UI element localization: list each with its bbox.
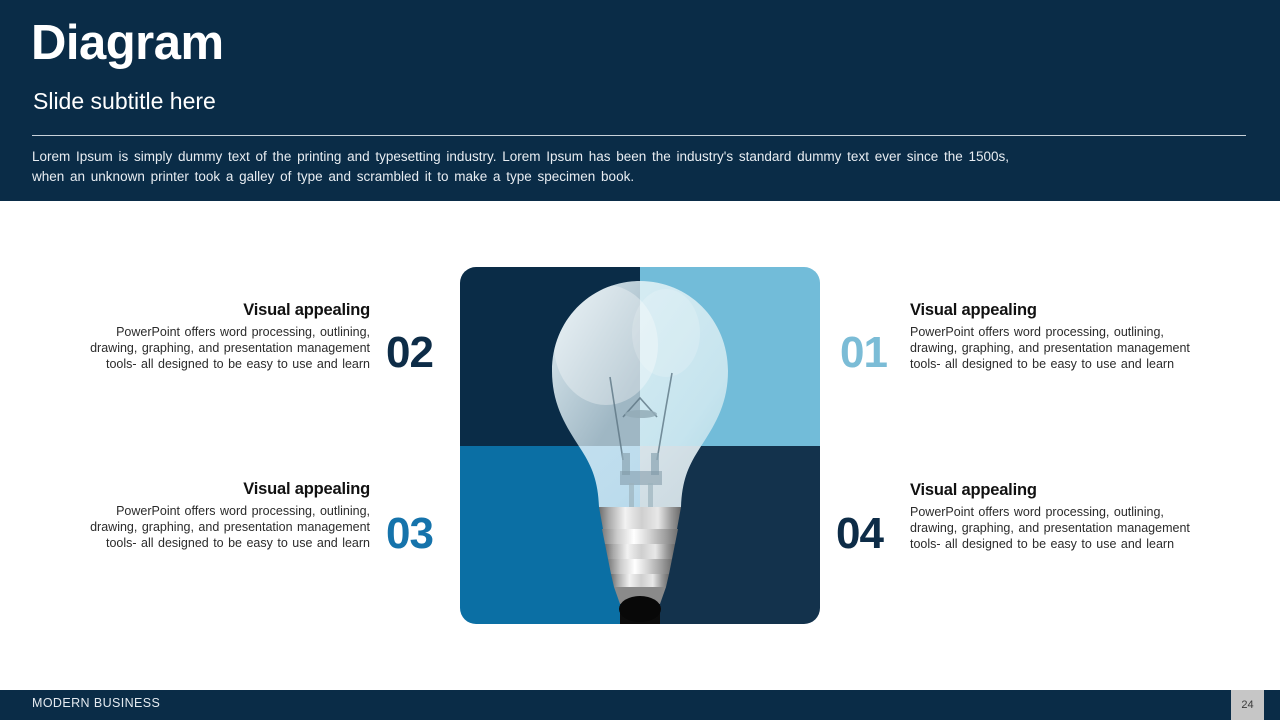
feature-body: PowerPoint offers word processing, outli… bbox=[85, 324, 370, 372]
feature-number-02: 02 bbox=[386, 331, 433, 375]
quadrant-bottom-right bbox=[640, 446, 820, 625]
page-title: Diagram bbox=[31, 17, 224, 70]
feature-heading: Visual appealing bbox=[910, 481, 1195, 500]
slide-header: Diagram Slide subtitle here Lorem Ipsum … bbox=[0, 0, 1280, 201]
feature-heading: Visual appealing bbox=[85, 301, 370, 320]
feature-number-03: 03 bbox=[386, 512, 433, 556]
feature-number-01: 01 bbox=[840, 331, 887, 375]
page-number-badge: 24 bbox=[1231, 690, 1264, 720]
header-description: Lorem Ipsum is simply dummy text of the … bbox=[32, 147, 1032, 187]
header-divider bbox=[32, 135, 1246, 136]
feature-block-04: Visual appealing PowerPoint offers word … bbox=[910, 481, 1195, 552]
quadrant-top-right bbox=[640, 267, 820, 446]
quadrant-bottom-left bbox=[460, 446, 640, 625]
lightbulb-quadrant-image bbox=[460, 267, 820, 624]
quadrant-top-left bbox=[460, 267, 640, 446]
feature-block-02: Visual appealing PowerPoint offers word … bbox=[85, 301, 370, 372]
feature-number-04: 04 bbox=[836, 512, 883, 556]
slide-body: Visual appealing PowerPoint offers word … bbox=[0, 201, 1280, 681]
feature-heading: Visual appealing bbox=[910, 301, 1195, 320]
feature-block-01: Visual appealing PowerPoint offers word … bbox=[910, 301, 1195, 372]
feature-body: PowerPoint offers word processing, outli… bbox=[85, 503, 370, 551]
feature-body: PowerPoint offers word processing, outli… bbox=[910, 504, 1195, 552]
slide-footer: MODERN BUSINESS 24 bbox=[0, 690, 1280, 720]
footer-brand-label: MODERN BUSINESS bbox=[32, 696, 160, 710]
feature-heading: Visual appealing bbox=[85, 480, 370, 499]
feature-block-03: Visual appealing PowerPoint offers word … bbox=[85, 480, 370, 551]
feature-body: PowerPoint offers word processing, outli… bbox=[910, 324, 1195, 372]
page-number-value: 24 bbox=[1241, 699, 1253, 711]
page-subtitle: Slide subtitle here bbox=[33, 88, 216, 115]
